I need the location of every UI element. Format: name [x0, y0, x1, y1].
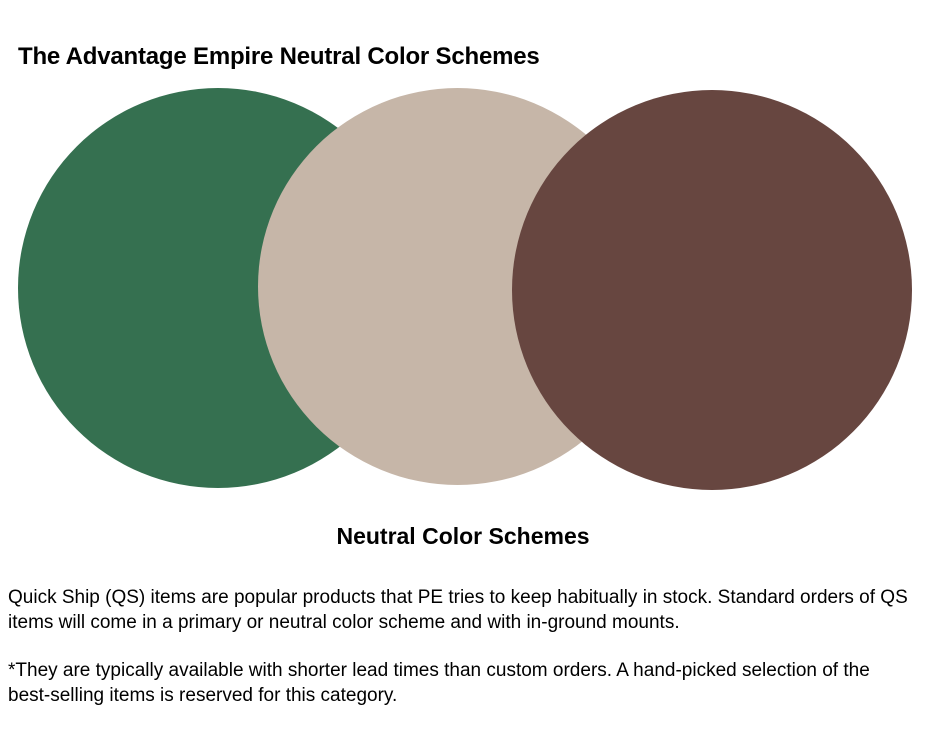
body-paragraph-1: Quick Ship (QS) items are popular produc… — [8, 586, 908, 635]
color-swatch-figure — [0, 80, 926, 500]
color-swatch-brown — [512, 90, 912, 490]
body-copy: Quick Ship (QS) items are popular produc… — [8, 586, 908, 708]
figure-caption: Neutral Color Schemes — [0, 522, 926, 550]
slide-page: The Advantage Empire Neutral Color Schem… — [0, 0, 926, 752]
body-paragraph-2: *They are typically available with short… — [8, 659, 908, 708]
page-title: The Advantage Empire Neutral Color Schem… — [18, 43, 540, 71]
